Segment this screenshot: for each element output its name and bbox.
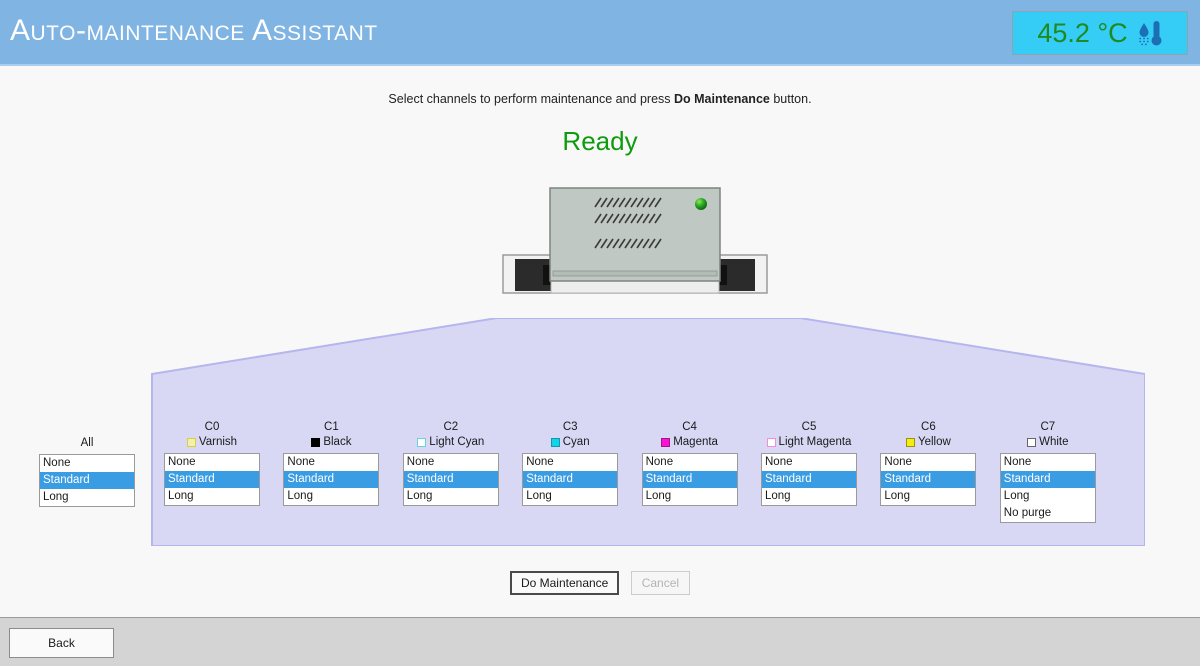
channel-name-label: Yellow bbox=[880, 435, 976, 450]
channel-name-label: Magenta bbox=[642, 435, 738, 450]
listbox-option[interactable]: Standard bbox=[1001, 471, 1095, 488]
ink-name-text: Varnish bbox=[199, 435, 237, 450]
maintenance-listbox-c1[interactable]: NoneStandardLong bbox=[283, 453, 379, 506]
channel-column-all: All NoneStandardLong bbox=[39, 436, 135, 507]
channel-code-label: C0 bbox=[164, 420, 260, 435]
channel-column-c6: C6YellowNoneStandardLong bbox=[880, 420, 976, 506]
listbox-option[interactable]: Standard bbox=[523, 471, 617, 488]
listbox-option[interactable]: Standard bbox=[165, 471, 259, 488]
listbox-option[interactable]: Long bbox=[643, 488, 737, 505]
page-title: Auto-maintenance Assistant bbox=[10, 14, 378, 48]
ink-color-swatch-icon bbox=[417, 438, 426, 447]
channel-name-label: Black bbox=[283, 435, 379, 450]
instruction-suffix: button. bbox=[770, 92, 812, 106]
ink-name-text: Yellow bbox=[918, 435, 951, 450]
ink-color-swatch-icon bbox=[187, 438, 196, 447]
ink-name-text: White bbox=[1039, 435, 1068, 450]
maintenance-listbox-c7[interactable]: NoneStandardLongNo purge bbox=[1000, 453, 1096, 523]
listbox-option[interactable]: None bbox=[40, 455, 134, 472]
channel-column-c0: C0VarnishNoneStandardLong bbox=[164, 420, 260, 506]
do-maintenance-button[interactable]: Do Maintenance bbox=[510, 571, 619, 595]
ink-color-swatch-icon bbox=[311, 438, 320, 447]
listbox-option[interactable]: Long bbox=[523, 488, 617, 505]
ink-name-text: Light Cyan bbox=[429, 435, 484, 450]
ink-name-text: Light Magenta bbox=[779, 435, 852, 450]
cancel-button: Cancel bbox=[631, 571, 690, 595]
listbox-option[interactable]: Standard bbox=[40, 472, 134, 489]
temperature-badge: 45.2 °C bbox=[1012, 11, 1188, 55]
instruction-text: Select channels to perform maintenance a… bbox=[0, 92, 1200, 106]
printer-graphic bbox=[495, 185, 775, 325]
ink-name-text: Black bbox=[323, 435, 351, 450]
channel-column-c3: C3CyanNoneStandardLong bbox=[522, 420, 618, 506]
listbox-option[interactable]: Long bbox=[40, 489, 134, 506]
listbox-option[interactable]: Standard bbox=[762, 471, 856, 488]
listbox-option[interactable]: No purge bbox=[1001, 505, 1095, 522]
temperature-value: 45.2 °C bbox=[1037, 20, 1136, 47]
channel-column-c2: C2Light CyanNoneStandardLong bbox=[403, 420, 499, 506]
channel-code-label: C2 bbox=[403, 420, 499, 435]
maintenance-listbox-c2[interactable]: NoneStandardLong bbox=[403, 453, 499, 506]
listbox-option[interactable]: None bbox=[165, 454, 259, 471]
listbox-option[interactable]: Long bbox=[284, 488, 378, 505]
channel-code-label: C6 bbox=[880, 420, 976, 435]
listbox-option[interactable]: Long bbox=[762, 488, 856, 505]
channel-name-label: White bbox=[1000, 435, 1096, 450]
ink-color-swatch-icon bbox=[1027, 438, 1036, 447]
channel-name-label: Light Magenta bbox=[761, 435, 857, 450]
listbox-option[interactable]: None bbox=[643, 454, 737, 471]
listbox-option[interactable]: None bbox=[881, 454, 975, 471]
channel-column-c4: C4MagentaNoneStandardLong bbox=[642, 420, 738, 506]
maintenance-listbox-c0[interactable]: NoneStandardLong bbox=[164, 453, 260, 506]
ink-color-swatch-icon bbox=[906, 438, 915, 447]
listbox-option[interactable]: Long bbox=[1001, 488, 1095, 505]
instruction-emphasis: Do Maintenance bbox=[674, 92, 770, 106]
back-button[interactable]: Back bbox=[9, 628, 114, 658]
listbox-option[interactable]: None bbox=[1001, 454, 1095, 471]
listbox-option[interactable]: Long bbox=[404, 488, 498, 505]
channel-name-label: Varnish bbox=[164, 435, 260, 450]
listbox-option[interactable]: Standard bbox=[881, 471, 975, 488]
listbox-option[interactable]: None bbox=[404, 454, 498, 471]
listbox-option[interactable]: Long bbox=[881, 488, 975, 505]
ink-color-swatch-icon bbox=[767, 438, 776, 447]
all-label: All bbox=[39, 436, 135, 451]
channel-code-label: C5 bbox=[761, 420, 857, 435]
ink-color-swatch-icon bbox=[551, 438, 560, 447]
ink-name-text: Cyan bbox=[563, 435, 590, 450]
maintenance-listbox-c6[interactable]: NoneStandardLong bbox=[880, 453, 976, 506]
channel-code-label: C4 bbox=[642, 420, 738, 435]
maintenance-listbox-all[interactable]: NoneStandardLong bbox=[39, 454, 135, 507]
maintenance-listbox-c5[interactable]: NoneStandardLong bbox=[761, 453, 857, 506]
channel-name-label: Light Cyan bbox=[403, 435, 499, 450]
maintenance-listbox-c4[interactable]: NoneStandardLong bbox=[642, 453, 738, 506]
instruction-prefix: Select channels to perform maintenance a… bbox=[388, 92, 674, 106]
printer-status-led bbox=[695, 198, 707, 210]
channel-column-c7: C7WhiteNoneStandardLongNo purge bbox=[1000, 420, 1096, 523]
listbox-option[interactable]: Standard bbox=[643, 471, 737, 488]
bottom-bar: Back bbox=[0, 617, 1200, 666]
channel-code-label: C1 bbox=[283, 420, 379, 435]
listbox-option[interactable]: None bbox=[523, 454, 617, 471]
action-button-row: Do Maintenance Cancel bbox=[0, 571, 1200, 595]
ink-name-text: Magenta bbox=[673, 435, 718, 450]
ink-color-swatch-icon bbox=[661, 438, 670, 447]
maintenance-listbox-c3[interactable]: NoneStandardLong bbox=[522, 453, 618, 506]
listbox-option[interactable]: None bbox=[762, 454, 856, 471]
channel-code-label: C3 bbox=[522, 420, 618, 435]
listbox-option[interactable]: Long bbox=[165, 488, 259, 505]
listbox-option[interactable]: None bbox=[284, 454, 378, 471]
channel-column-c1: C1BlackNoneStandardLong bbox=[283, 420, 379, 506]
app-header: Auto-maintenance Assistant 45.2 °C bbox=[0, 0, 1200, 66]
channel-name-label: Cyan bbox=[522, 435, 618, 450]
channel-code-label: C7 bbox=[1000, 420, 1096, 435]
listbox-option[interactable]: Standard bbox=[404, 471, 498, 488]
listbox-option[interactable]: Standard bbox=[284, 471, 378, 488]
humidity-thermometer-icon bbox=[1137, 18, 1163, 48]
status-text: Ready bbox=[0, 126, 1200, 157]
channel-column-c5: C5Light MagentaNoneStandardLong bbox=[761, 420, 857, 506]
